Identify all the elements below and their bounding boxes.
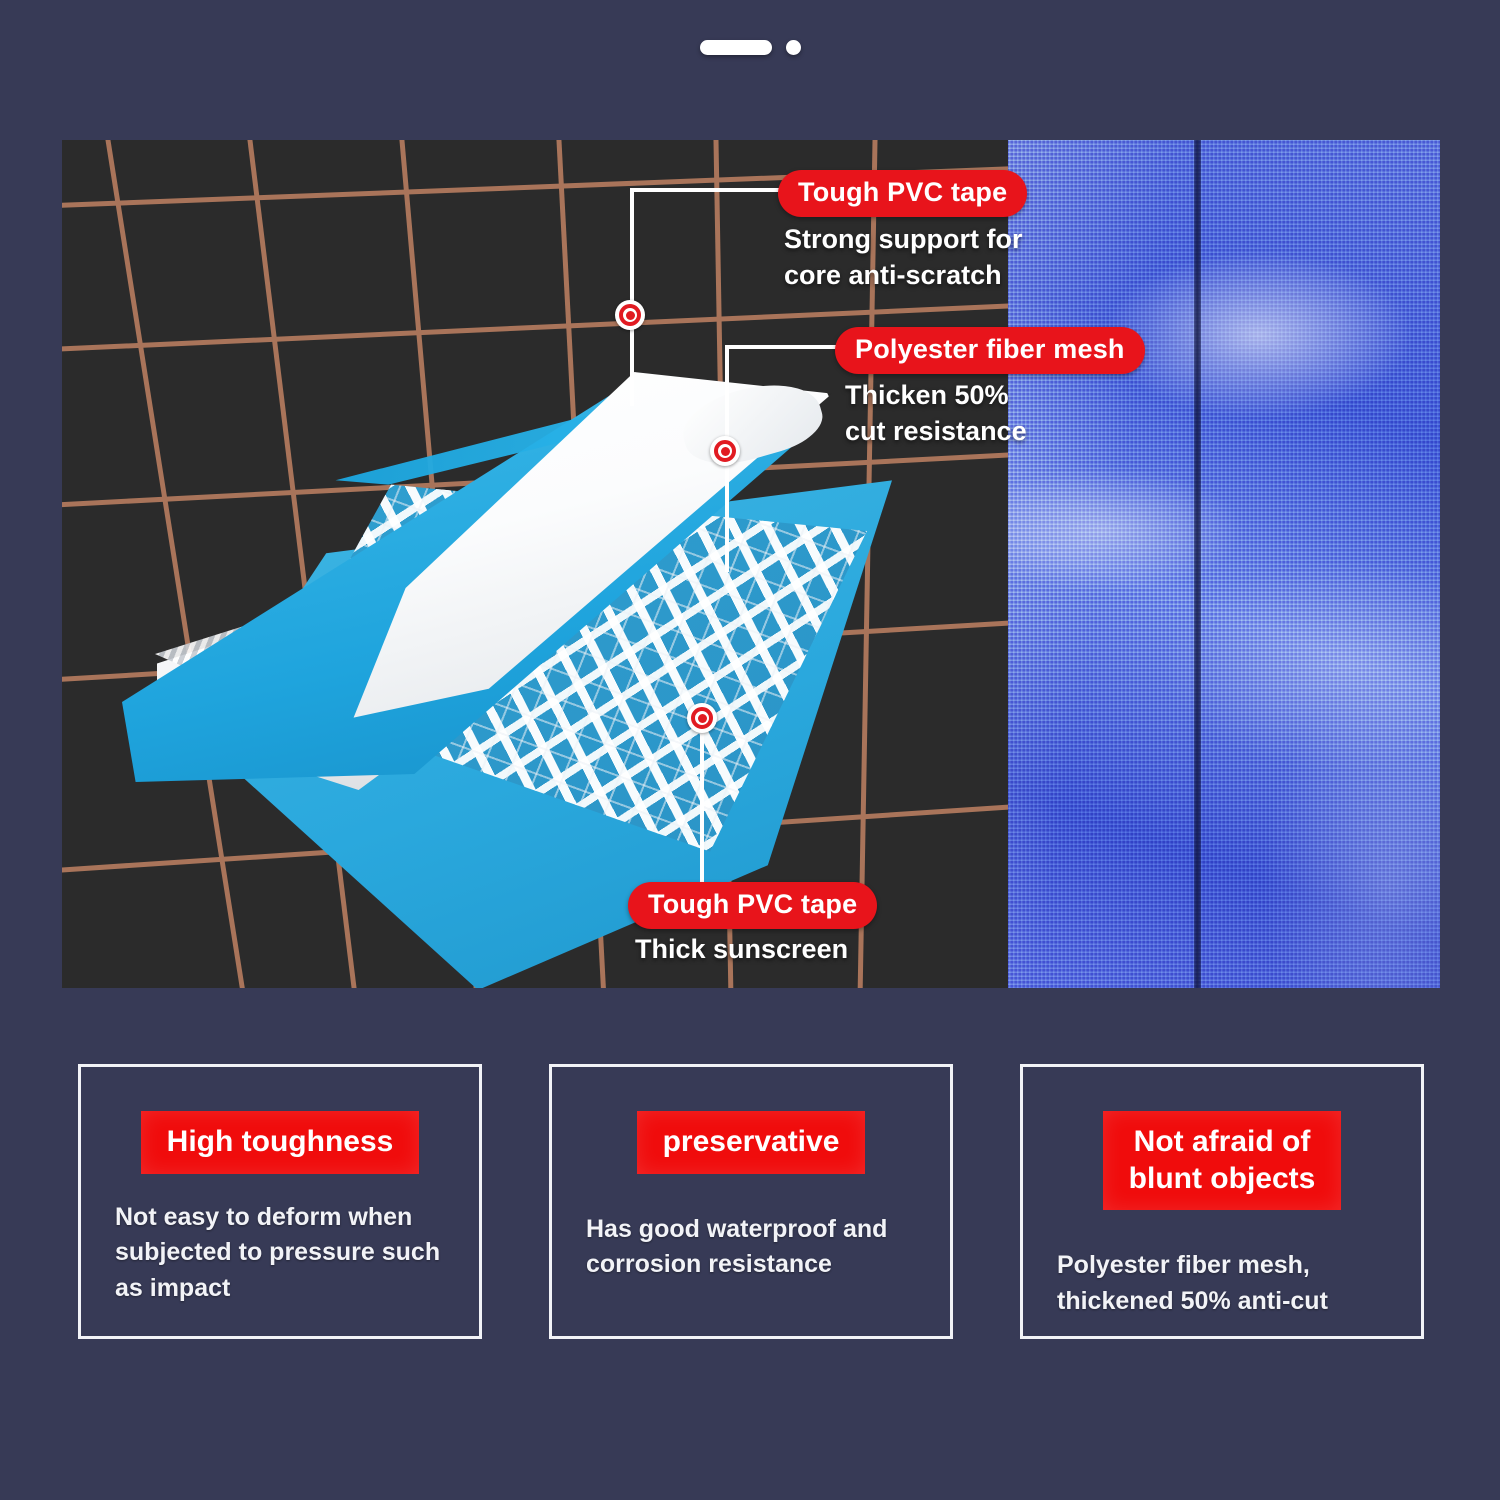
pagination-active-bar[interactable] <box>700 40 772 55</box>
callout-2-leader-horizontal <box>725 345 840 349</box>
feature-card-body: Polyester fiber mesh, thickened 50% anti… <box>1057 1248 1387 1319</box>
callout-marker-top[interactable] <box>615 300 645 330</box>
fabric-seam-line <box>1194 140 1201 988</box>
callout-marker-bottom[interactable] <box>687 703 717 733</box>
callout-2-description: Thicken 50% cut resistance <box>845 378 1027 449</box>
feature-card-high-toughness[interactable]: High toughness Not easy to deform when s… <box>78 1064 482 1339</box>
feature-card-preservative[interactable]: preservative Has good waterproof and cor… <box>549 1064 953 1339</box>
feature-card-title: Not afraid of blunt objects <box>1103 1111 1342 1210</box>
callout-3-badge: Tough PVC tape <box>628 882 877 929</box>
feature-card-title: preservative <box>637 1111 866 1174</box>
feature-card-row: High toughness Not easy to deform when s… <box>78 1064 1424 1339</box>
pagination-indicator[interactable] <box>0 40 1500 55</box>
hero-image-panel: Tough PVC tape Strong support for core a… <box>62 140 1440 988</box>
callout-marker-middle[interactable] <box>710 436 740 466</box>
callout-2-badge: Polyester fiber mesh <box>835 327 1145 374</box>
callout-3-description: Thick sunscreen <box>635 932 848 968</box>
pagination-dot[interactable] <box>786 40 801 55</box>
callout-1-leader-vertical <box>630 188 634 406</box>
callout-1-description: Strong support for core anti-scratch <box>784 222 1022 293</box>
feature-card-blunt-objects[interactable]: Not afraid of blunt objects Polyester fi… <box>1020 1064 1424 1339</box>
callout-1-leader-horizontal <box>630 188 782 192</box>
callout-1-badge: Tough PVC tape <box>778 170 1027 217</box>
blue-tarpaulin-photo <box>1008 140 1440 988</box>
callout-3-leader-vertical <box>700 718 704 896</box>
feature-card-body: Has good waterproof and corrosion resist… <box>586 1212 916 1283</box>
feature-card-title: High toughness <box>141 1111 420 1174</box>
feature-card-body: Not easy to deform when subjected to pre… <box>115 1200 445 1307</box>
